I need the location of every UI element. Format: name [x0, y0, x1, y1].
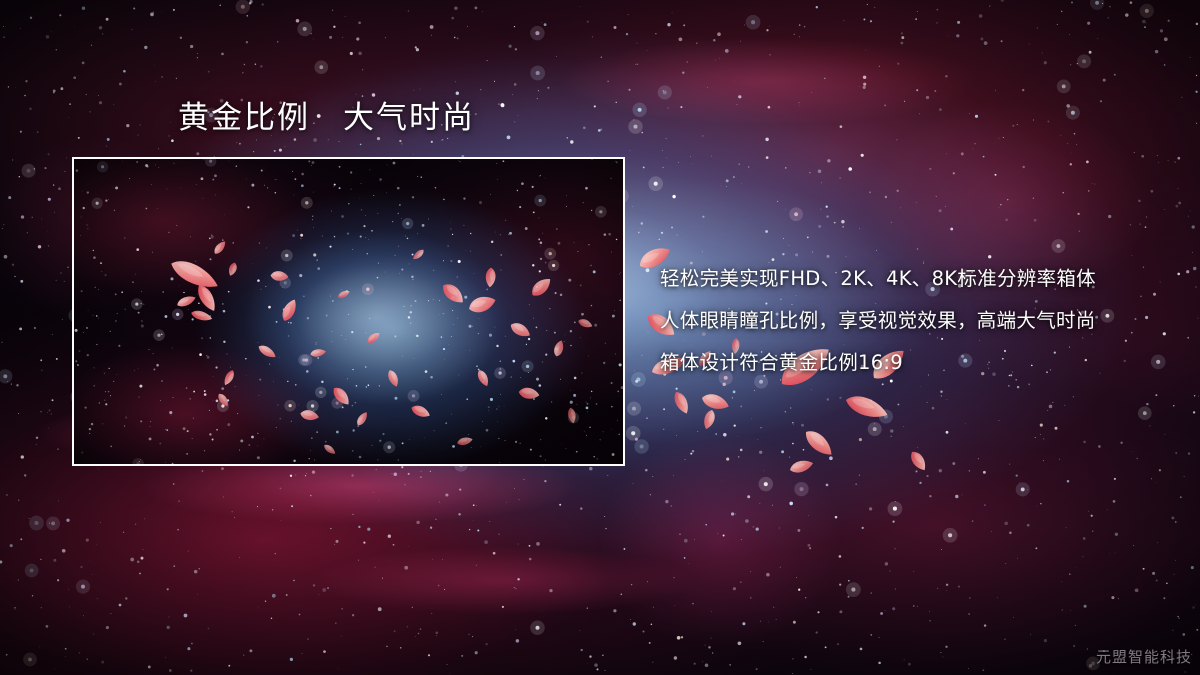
body-text-block: 轻松完美实现FHD、2K、4K、8K标准分辨率箱体 人体眼睛瞳孔比例，享受视觉效… — [660, 258, 1180, 384]
photo-vignette — [74, 159, 623, 464]
watermark: 元盟智能科技 — [1096, 646, 1192, 667]
body-line-3: 箱体设计符合黄金比例16:9 — [660, 342, 1180, 384]
body-line-1: 轻松完美实现FHD、2K、4K、8K标准分辨率箱体 — [660, 258, 1180, 300]
page-title: 黄金比例 大气时尚 — [178, 99, 475, 138]
body-line-2: 人体眼睛瞳孔比例，享受视觉效果，高端大气时尚 — [660, 300, 1180, 342]
framed-photo — [72, 157, 625, 466]
presentation-slide: 黄金比例 大气时尚 — [0, 0, 1200, 675]
